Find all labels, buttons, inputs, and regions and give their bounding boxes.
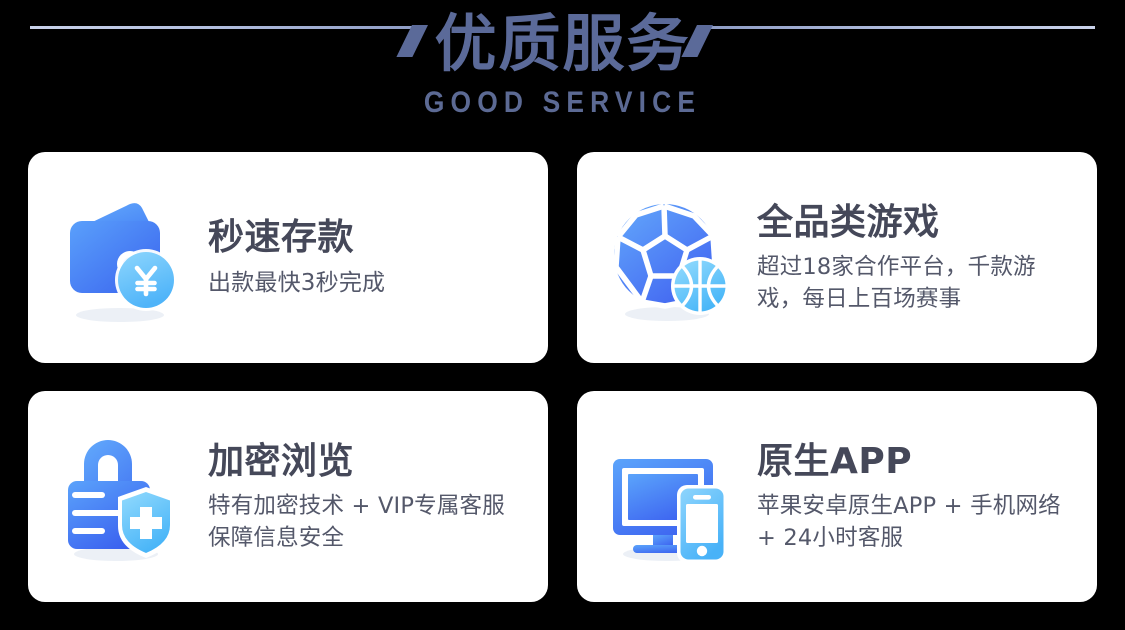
feature-card-grid: 秒速存款 出款最快3秒完成 [28,152,1097,602]
card-description: 苹果安卓原生APP + 手机网络 + 24小时客服 [757,491,1075,555]
card-description: 特有加密技术 + VIP专属客服保障信息安全 [208,491,526,555]
card-description: 超过18家合作平台，千款游戏，每日上百场赛事 [757,252,1075,316]
monitor-phone-icon [607,427,735,567]
card-title: 秒速存款 [208,217,526,258]
promo-page: 优质服务 GOOD SERVICE [0,0,1125,630]
feature-card-native-app[interactable]: 原生APP 苹果安卓原生APP + 手机网络 + 24小时客服 [577,391,1097,602]
card-description: 出款最快3秒完成 [208,267,526,300]
page-header: 优质服务 GOOD SERVICE [0,0,1125,146]
feature-card-games[interactable]: 全品类游戏 超过18家合作平台，千款游戏，每日上百场赛事 [577,152,1097,363]
page-title: 优质服务 GOOD SERVICE [0,6,1125,120]
wallet-yen-icon [58,188,186,328]
card-title: 加密浏览 [208,441,526,482]
card-title: 全品类游戏 [757,202,1075,243]
card-text-deposit: 秒速存款 出款最快3秒完成 [208,215,526,300]
soccer-basketball-icon [607,188,735,328]
card-title: 原生APP [757,441,1075,482]
card-text-encryption: 加密浏览 特有加密技术 + VIP专属客服保障信息安全 [208,439,526,555]
page-title-en: GOOD SERVICE [68,86,1058,120]
card-text-native-app: 原生APP 苹果安卓原生APP + 手机网络 + 24小时客服 [757,439,1075,555]
lock-shield-icon [58,427,186,567]
feature-card-deposit[interactable]: 秒速存款 出款最快3秒完成 [28,152,548,363]
card-text-games: 全品类游戏 超过18家合作平台，千款游戏，每日上百场赛事 [757,200,1075,316]
page-title-cn: 优质服务 [0,6,1125,82]
feature-card-encryption[interactable]: 加密浏览 特有加密技术 + VIP专属客服保障信息安全 [28,391,548,602]
